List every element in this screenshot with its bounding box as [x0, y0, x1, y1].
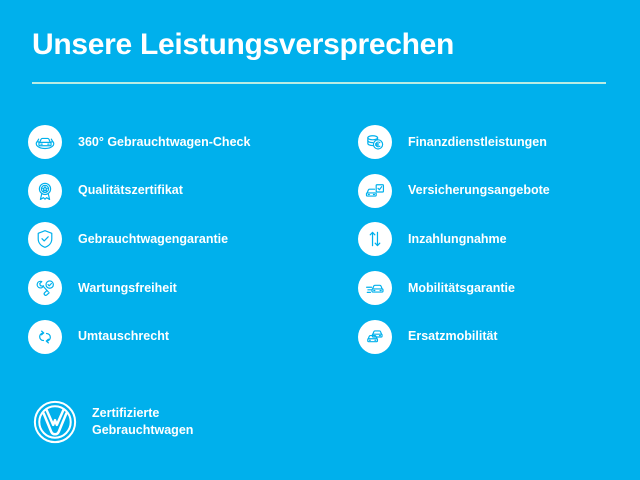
two-cars-icon — [358, 320, 392, 354]
feature-label: Umtauschrecht — [78, 329, 169, 344]
coins-euro-icon — [358, 125, 392, 159]
title-divider — [32, 82, 606, 84]
promo-banner: Unsere Leistungsversprechen — [0, 0, 640, 480]
feature-item-inzahlungnahme[interactable]: Inzahlungnahme — [358, 215, 628, 264]
feature-label: Qualitätszertifikat — [78, 183, 183, 198]
car-speed-lines-icon — [358, 271, 392, 305]
feature-label: Finanzdienstleistungen — [408, 135, 547, 150]
feature-label: Wartungsfreiheit — [78, 281, 177, 296]
exchange-arrows-icon — [28, 320, 62, 354]
feature-item-versicherungsangebote[interactable]: Versicherungsangebote — [358, 167, 628, 216]
features-grid: 360° Gebrauchtwagen-Check Qualitätszerti… — [0, 118, 640, 361]
car-document-check-icon — [358, 174, 392, 208]
features-right-column: Finanzdienstleistungen Versicherungsange… — [358, 118, 628, 361]
feature-item-gebrauchtwagengarantie[interactable]: Gebrauchtwagengarantie — [28, 215, 328, 264]
volkswagen-logo-icon — [32, 399, 78, 445]
feature-item-gebrauchtwagen-check[interactable]: 360° Gebrauchtwagen-Check — [28, 118, 328, 167]
feature-item-ersatzmobilitaet[interactable]: Ersatzmobilität — [358, 312, 628, 361]
brand-lockup: Zertifizierte Gebrauchtwagen — [32, 399, 193, 445]
feature-label: 360° Gebrauchtwagen-Check — [78, 135, 250, 150]
brand-text-line1: Zertifizierte — [92, 406, 159, 420]
feature-item-umtauschrecht[interactable]: Umtauschrecht — [28, 312, 328, 361]
feature-label: Inzahlungnahme — [408, 232, 507, 247]
wrench-check-icon — [28, 271, 62, 305]
features-left-column: 360° Gebrauchtwagen-Check Qualitätszerti… — [28, 118, 328, 361]
brand-text: Zertifizierte Gebrauchtwagen — [92, 405, 193, 439]
feature-label: Gebrauchtwagengarantie — [78, 232, 228, 247]
shield-check-icon — [28, 222, 62, 256]
header: Unsere Leistungsversprechen — [32, 28, 608, 84]
feature-item-finanzdienstleistungen[interactable]: Finanzdienstleistungen — [358, 118, 628, 167]
award-rosette-icon — [28, 174, 62, 208]
feature-item-mobilitaetsgarantie[interactable]: Mobilitätsgarantie — [358, 264, 628, 313]
feature-label: Versicherungsangebote — [408, 183, 550, 198]
brand-text-line2: Gebrauchtwagen — [92, 423, 193, 437]
car-360-check-icon — [28, 125, 62, 159]
arrows-up-down-icon — [358, 222, 392, 256]
feature-item-qualitaetszertifikat[interactable]: Qualitätszertifikat — [28, 167, 328, 216]
feature-label: Ersatzmobilität — [408, 329, 498, 344]
feature-label: Mobilitätsgarantie — [408, 281, 515, 296]
feature-item-wartungsfreiheit[interactable]: Wartungsfreiheit — [28, 264, 328, 313]
page-title: Unsere Leistungsversprechen — [32, 28, 608, 63]
